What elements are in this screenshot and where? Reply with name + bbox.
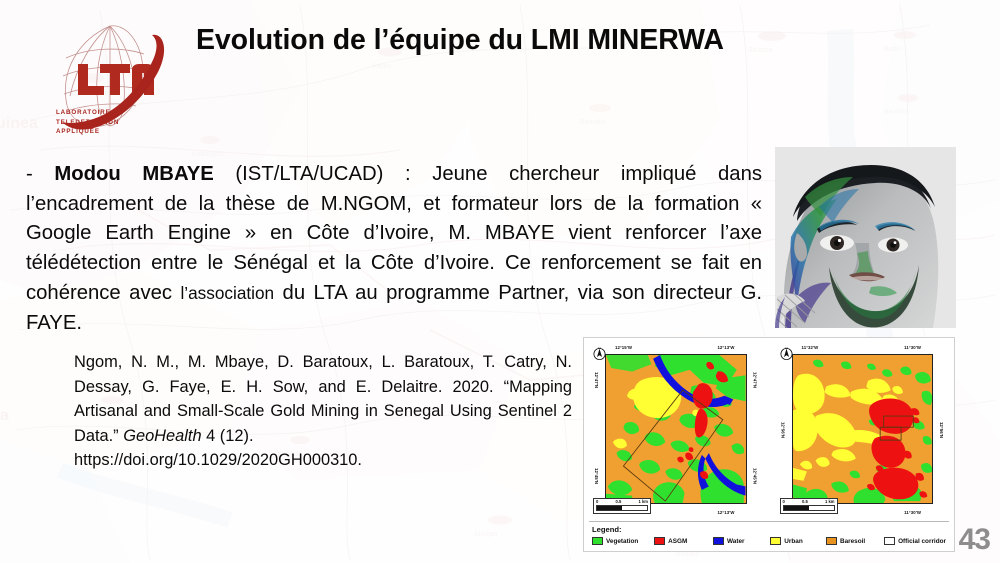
page-number: 43	[959, 523, 990, 557]
scale-zero: 0	[783, 500, 785, 504]
legend-swatch-asgm	[654, 537, 665, 545]
svg-text:uinea: uinea	[0, 115, 38, 132]
slide-root: Tambacounda Kedougou Kayes Bamako Sikass…	[0, 0, 1000, 563]
svg-text:N: N	[785, 346, 787, 350]
legend-title: Legend:	[592, 525, 946, 534]
map-left-lon-top-right: 12°13'W	[717, 345, 734, 350]
legend-item-asgm: ASGM	[654, 537, 713, 545]
map-panel-right: 11°32'W 11°30'W 11°32'W 11°30'W 12°56'N …	[776, 342, 950, 518]
scale-mid: 0.5	[802, 500, 808, 504]
svg-text:Sikasso: Sikasso	[748, 47, 773, 54]
scale-max: 1 km	[638, 500, 648, 504]
svg-text:a: a	[0, 407, 9, 424]
map-left-lon-bottom-right: 12°13'W	[717, 510, 734, 515]
legend-swatch-baresoil	[826, 537, 837, 545]
svg-text:Abidjan: Abidjan	[474, 531, 497, 538]
legend-label-baresoil: Baresoil	[840, 538, 865, 545]
map-figure: 12°15'W 12°13'W 12°15'W 12°13'W 12°47'N …	[583, 337, 955, 552]
citation-journal: GeoHealth	[123, 427, 201, 445]
scale-max: 1 km	[825, 500, 835, 504]
person-name: Modou MBAYE	[54, 163, 213, 185]
map-right-lat-left: 12°56'N	[781, 422, 786, 438]
map-right-scale-bar: 0 0.5 1 km	[780, 498, 838, 514]
citation-block: Ngom, N. M., M. Mbaye, D. Baratoux, L. B…	[74, 350, 572, 473]
legend-item-official-corridor: Official corridor	[884, 537, 946, 545]
svg-text:Bobo: Bobo	[884, 46, 900, 53]
map-left-lat-right-top: 12°47'N	[753, 372, 758, 388]
legend-item-water: Water	[713, 537, 770, 545]
legend-label-urban: Urban	[784, 538, 802, 545]
map-right-lon-top-left: 11°32'W	[802, 345, 819, 350]
maps-row: 12°15'W 12°13'W 12°15'W 12°13'W 12°47'N …	[589, 342, 949, 518]
map-left-lat-right-bottom: 12°45'N	[753, 468, 758, 484]
map-left-canvas	[605, 354, 747, 504]
svg-text:N: N	[598, 346, 600, 350]
svg-text:Kayes: Kayes	[372, 63, 392, 70]
citation-volume-issue: 4 (12).	[202, 427, 254, 445]
logo-caption-line-1: LABORATOIRE DE	[56, 108, 166, 118]
map-left-lon-top-left: 12°15'W	[615, 345, 632, 350]
svg-text:Bouake: Bouake	[676, 551, 700, 558]
legend-item-urban: Urban	[770, 537, 826, 545]
citation-doi: https://doi.org/10.1029/2020GH000310.	[74, 448, 572, 473]
scale-zero: 0	[596, 500, 598, 504]
legend-label-water: Water	[727, 538, 745, 545]
map-left-lat-left-top: 12°47'N	[594, 372, 599, 388]
map-legend: Legend: Vegetation ASGM Water Urban	[589, 521, 949, 551]
map-right-lon-top-right: 11°30'W	[904, 345, 921, 350]
legend-label-official-corridor: Official corridor	[898, 538, 946, 545]
svg-text:Bamako: Bamako	[580, 119, 606, 126]
body-text-small-fragment: l’association	[180, 283, 274, 303]
svg-text:Kedougou: Kedougou	[192, 151, 224, 158]
scale-mid: 0.5	[615, 500, 621, 504]
legend-swatch-official-corridor	[884, 537, 895, 545]
legend-label-vegetation: Vegetation	[606, 538, 638, 545]
north-arrow-icon: N	[780, 346, 793, 364]
map-right-lat-right: 12°56'N	[939, 422, 944, 438]
portrait-photo	[775, 147, 956, 328]
map-left-scale-bar: 0 0.5 1 km	[593, 498, 651, 514]
page-title: Evolution de l’équipe du LMI MINERWA	[196, 24, 724, 57]
legend-swatch-vegetation	[592, 537, 603, 545]
logo-caption-line-3: APPLIQUEE	[56, 127, 166, 137]
map-right-canvas	[792, 354, 934, 504]
body-paragraph: - Modou MBAYE (IST/LTA/UCAD) : Jeune che…	[26, 160, 762, 338]
legend-item-baresoil: Baresoil	[826, 537, 884, 545]
logo-caption-line-2: TELEDETECTION	[56, 118, 166, 128]
map-right-lon-bottom-right: 11°30'W	[904, 510, 921, 515]
legend-label-asgm: ASGM	[668, 538, 687, 545]
legend-item-vegetation: Vegetation	[592, 537, 654, 545]
legend-items: Vegetation ASGM Water Urban Baresoil	[592, 537, 946, 545]
legend-swatch-water	[713, 537, 724, 545]
bullet-dash: -	[26, 163, 54, 185]
lta-logo-caption: LABORATOIRE DE TELEDETECTION APPLIQUEE	[56, 108, 166, 137]
svg-text:Banfora: Banfora	[884, 109, 909, 116]
legend-swatch-urban	[770, 537, 781, 545]
map-panel-left: 12°15'W 12°13'W 12°15'W 12°13'W 12°47'N …	[589, 342, 763, 518]
north-arrow-icon: N	[593, 346, 606, 364]
map-left-lat-left-bottom: 12°45'N	[594, 468, 599, 484]
